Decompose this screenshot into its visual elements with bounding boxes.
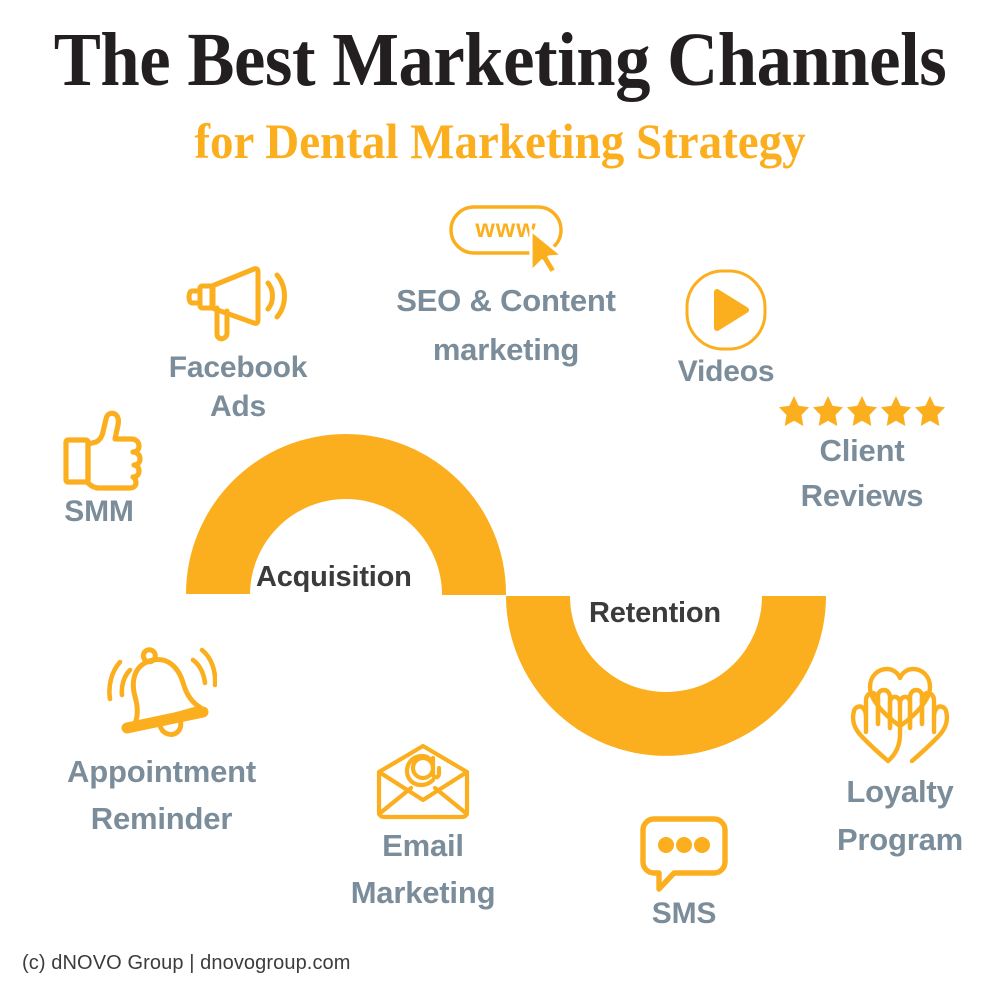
chat-bubble-icon — [584, 814, 784, 894]
channel-label-appointment-reminder: Appointment Reminder — [24, 748, 299, 842]
five-stars-icon — [752, 394, 972, 428]
play-button-icon — [636, 268, 816, 352]
channel-facebook-ads[interactable]: Facebook Ads — [138, 262, 338, 426]
infographic-canvas: The Best Marketing Channels for Dental M… — [0, 0, 1000, 1000]
stage-label-retention: Retention — [589, 597, 721, 630]
channel-client-reviews[interactable]: Client Reviews — [752, 394, 972, 518]
channel-label-facebook-ads: Facebook Ads — [138, 348, 338, 426]
channel-label-client-reviews: Client Reviews — [752, 428, 972, 518]
cursor-arrow-icon — [531, 230, 563, 274]
channel-videos[interactable]: Videos — [636, 268, 816, 391]
page-subtitle: for Dental Marketing Strategy — [30, 112, 970, 170]
page-title: The Best Marketing Channels — [35, 18, 965, 102]
channel-label-sms: SMS — [584, 894, 784, 933]
channel-label-email-marketing: Email Marketing — [318, 822, 528, 916]
megaphone-icon — [138, 262, 338, 348]
channel-label-smm: SMM — [14, 492, 184, 531]
bell-icon — [24, 644, 299, 748]
channel-appointment-reminder[interactable]: Appointment Reminder — [24, 644, 299, 842]
channel-loyalty-program[interactable]: Loyalty Program — [800, 662, 1000, 864]
stage-label-acquisition: Acquisition — [256, 561, 412, 594]
channel-email-marketing[interactable]: Email Marketing — [318, 742, 528, 916]
channel-seo[interactable]: www SEO & Content marketing — [362, 204, 650, 374]
footer-credit: (c) dNOVO Group | dnovogroup.com — [22, 952, 351, 975]
www-label: www — [474, 215, 536, 243]
channel-label-loyalty-program: Loyalty Program — [800, 768, 1000, 864]
channel-label-seo: SEO & Content marketing — [362, 276, 650, 374]
envelope-at-icon — [318, 742, 528, 822]
www-search-bar-icon: www — [362, 204, 650, 276]
channel-label-videos: Videos — [636, 352, 816, 391]
channel-sms[interactable]: SMS — [584, 814, 784, 933]
hands-heart-icon — [800, 662, 1000, 768]
